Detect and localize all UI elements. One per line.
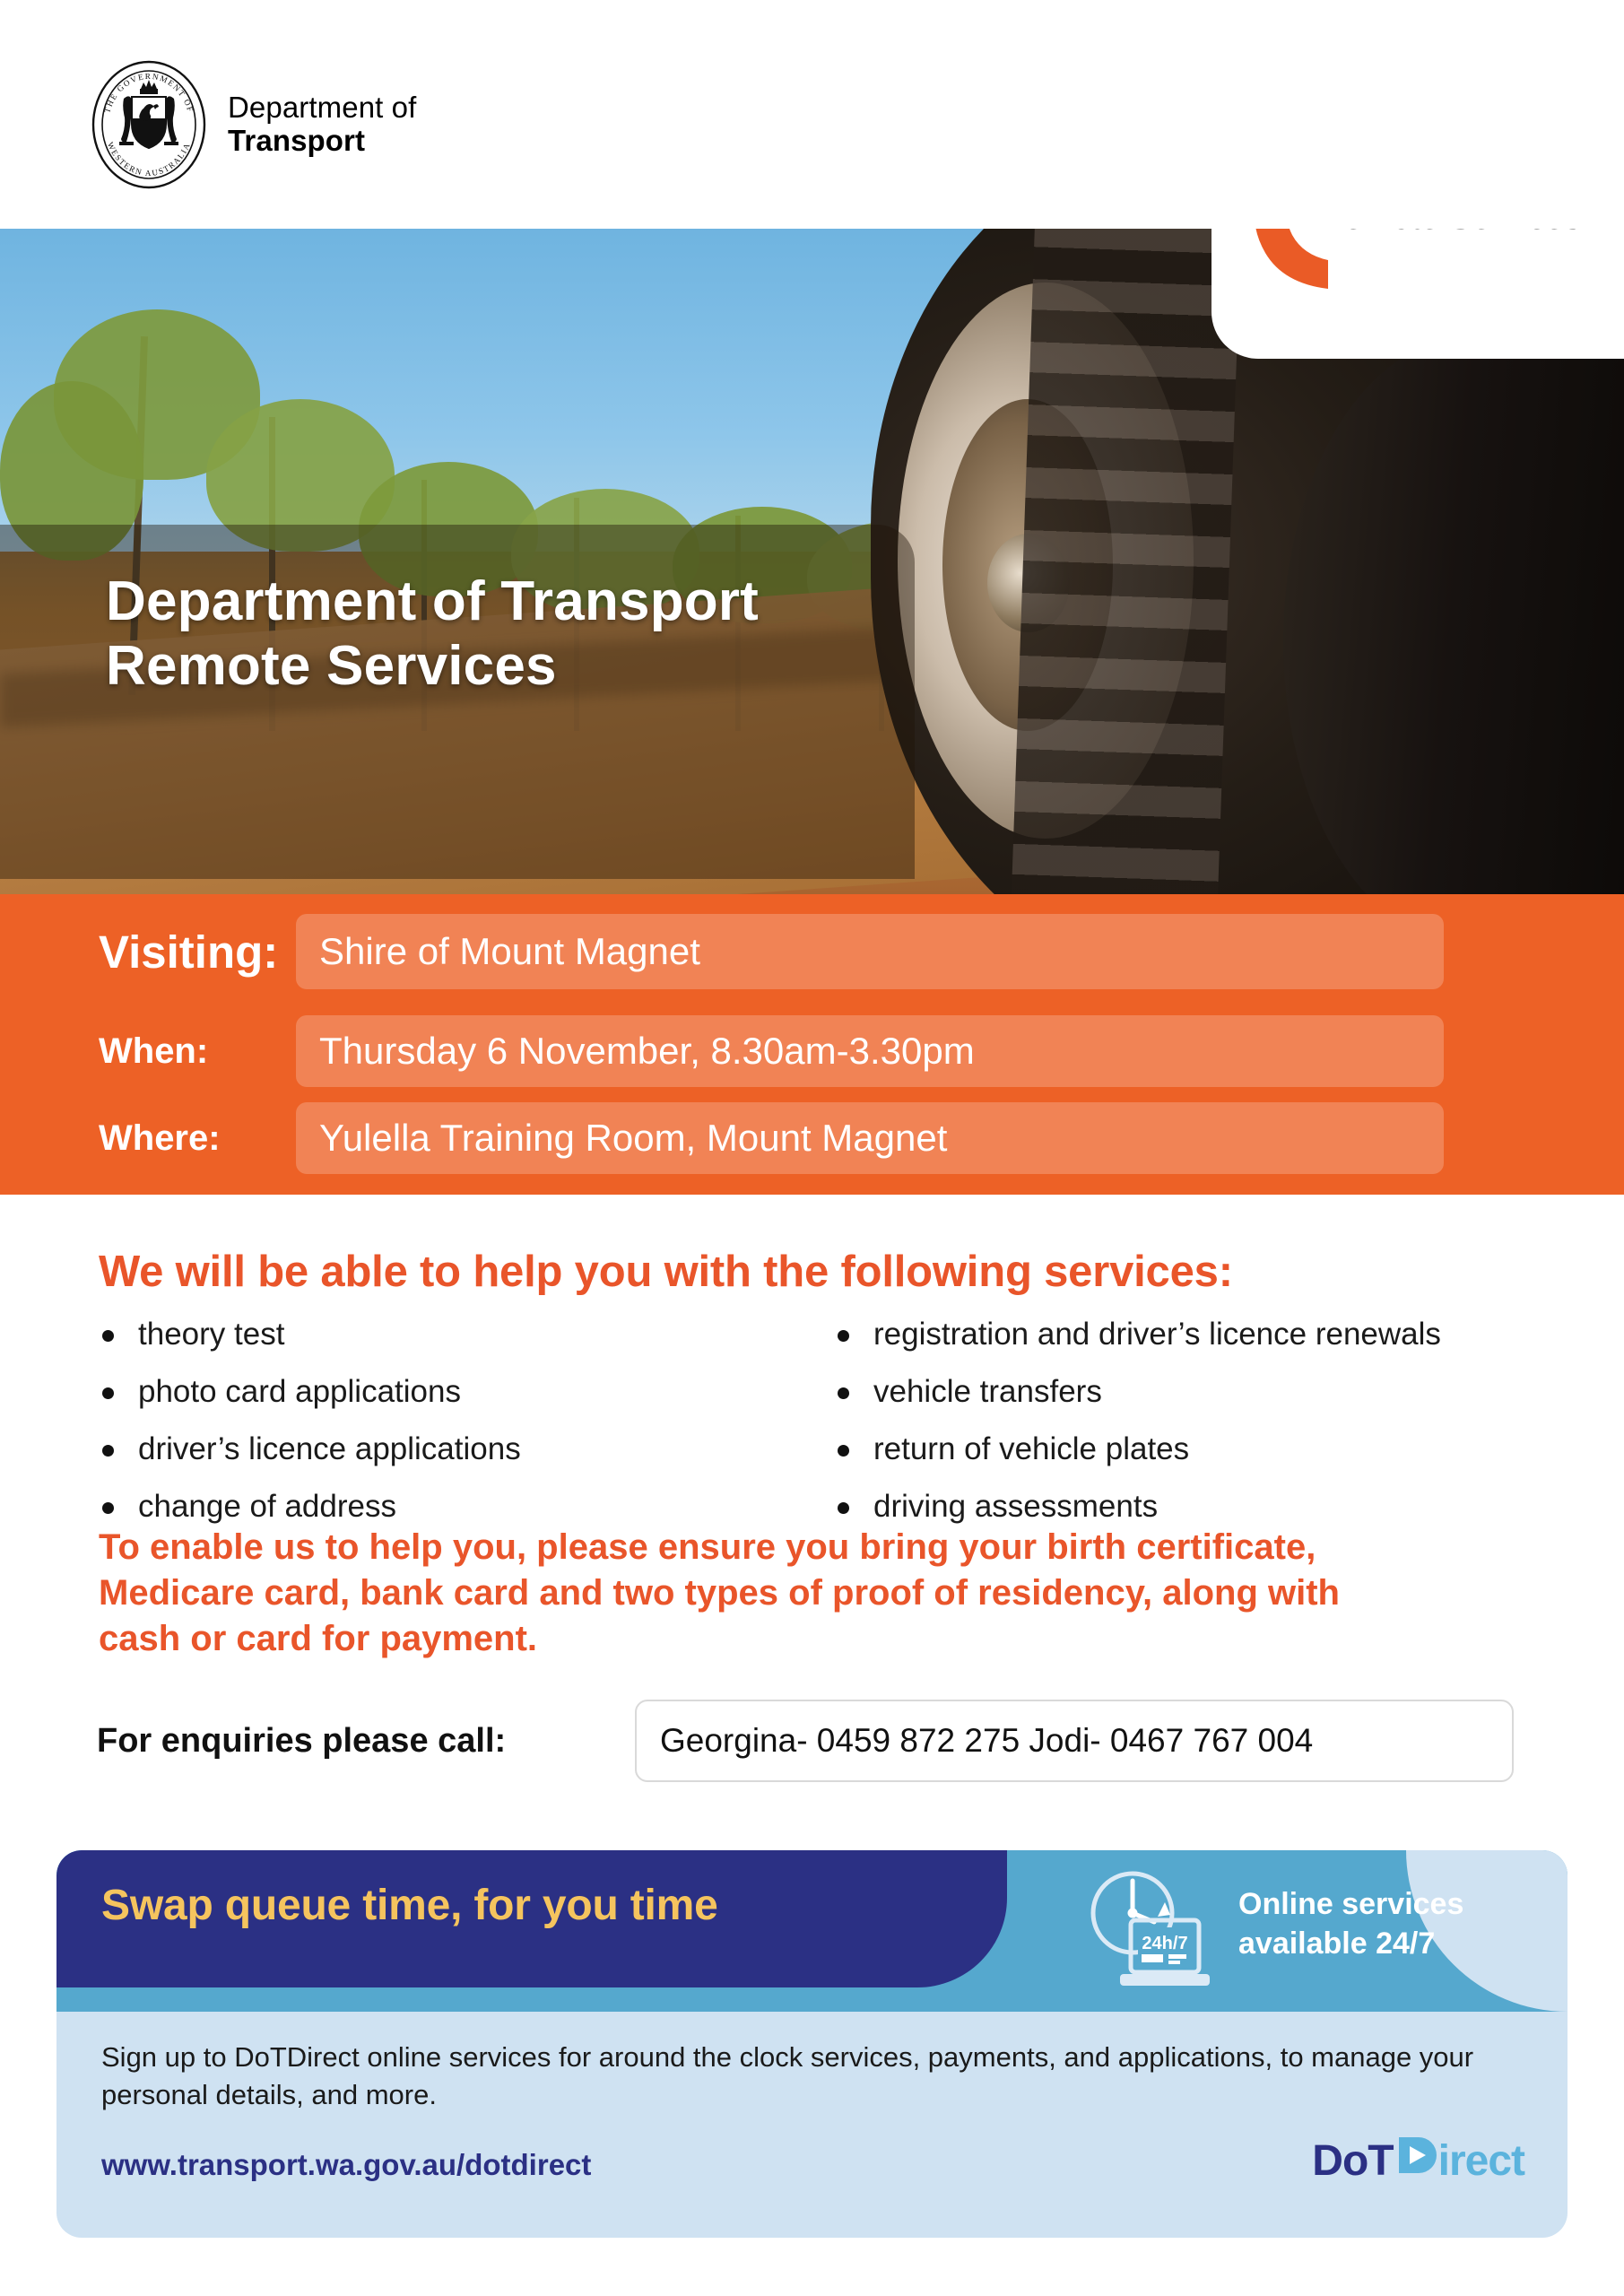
list-item: photo card applications: [90, 1376, 825, 1407]
enquiries-phone-value[interactable]: Georgina- 0459 872 275 Jodi- 0467 767 00…: [635, 1700, 1514, 1782]
dotdirect-headline: Swap queue time, for you time: [101, 1881, 718, 1930]
enquiries-label: For enquiries please call:: [97, 1722, 635, 1761]
page-header: THE GOVERNMENT OF WESTERN AUSTRALIA: [0, 0, 1624, 229]
visiting-value: Shire of Mount Magnet: [296, 914, 1444, 989]
dotdirect-logo: DoT irect: [1312, 2135, 1524, 2186]
list-item: change of address: [90, 1491, 825, 1522]
services-columns: theory test photo card applications driv…: [90, 1318, 1560, 1548]
visiting-label: Visiting:: [99, 926, 296, 978]
where-value: Yulella Training Room, Mount Magnet: [296, 1102, 1444, 1174]
wa-crest-icon: THE GOVERNMENT OF WESTERN AUSTRALIA: [90, 59, 208, 190]
poster-page: THE GOVERNMENT OF WESTERN AUSTRALIA: [0, 0, 1624, 2296]
department-line-2: Transport: [228, 125, 416, 158]
department-name: Department of Transport: [228, 91, 416, 158]
dotdirect-body-text: Sign up to DoTDirect online services for…: [101, 2039, 1500, 2114]
services-heading: We will be able to help you with the fol…: [99, 1247, 1233, 1297]
availability-line-1: Online services: [1238, 1884, 1463, 1924]
services-column-left: theory test photo card applications driv…: [90, 1318, 825, 1548]
svg-text:24h/7: 24h/7: [1142, 1934, 1187, 1953]
dotdirect-panel: Swap queue time, for you time 24h/7 Onli…: [56, 1850, 1568, 2238]
list-item: driver’s licence applications: [90, 1433, 825, 1465]
list-item: theory test: [90, 1318, 825, 1350]
visit-details-band: Visiting: Shire of Mount Magnet When: Th…: [0, 894, 1624, 1195]
dotdirect-logo-dot: DoT: [1312, 2136, 1393, 2186]
visiting-row: Visiting: Shire of Mount Magnet: [99, 914, 1533, 989]
availability-line-2: available 24/7: [1238, 1924, 1463, 1963]
list-item: registration and driver’s licence renewa…: [825, 1318, 1560, 1350]
dotdirect-logo-direct: irect: [1438, 2136, 1524, 2186]
when-value: Thursday 6 November, 8.30am-3.30pm: [296, 1015, 1444, 1087]
when-label: When:: [99, 1031, 296, 1072]
enquiries-row: For enquiries please call: Georgina- 045…: [97, 1700, 1514, 1782]
when-row: When: Thursday 6 November, 8.30am-3.30pm: [99, 1015, 1533, 1087]
where-row: Where: Yulella Training Room, Mount Magn…: [99, 1102, 1533, 1174]
list-item: vehicle transfers: [825, 1376, 1560, 1407]
where-label: Where:: [99, 1118, 296, 1159]
services-column-right: registration and driver’s licence renewa…: [825, 1318, 1560, 1548]
hero-title: Department of Transport Remote Services: [106, 570, 759, 699]
hero-title-line-2: Remote Services: [106, 634, 759, 699]
list-item: return of vehicle plates: [825, 1433, 1560, 1465]
play-triangle-icon: [1395, 2135, 1437, 2175]
wa-government-branding: THE GOVERNMENT OF WESTERN AUSTRALIA: [90, 59, 416, 190]
clock-laptop-24-7-icon: 24h/7: [1079, 1861, 1222, 2006]
bring-documents-note: To enable us to help you, please ensure …: [99, 1525, 1399, 1663]
list-item: driving assessments: [825, 1491, 1560, 1522]
dotdirect-availability: Online services available 24/7: [1238, 1884, 1463, 1963]
department-line-1: Department of: [228, 91, 416, 125]
hero-title-line-1: Department of Transport: [106, 570, 759, 634]
dotdirect-url-link[interactable]: www.transport.wa.gov.au/dotdirect: [101, 2148, 591, 2182]
